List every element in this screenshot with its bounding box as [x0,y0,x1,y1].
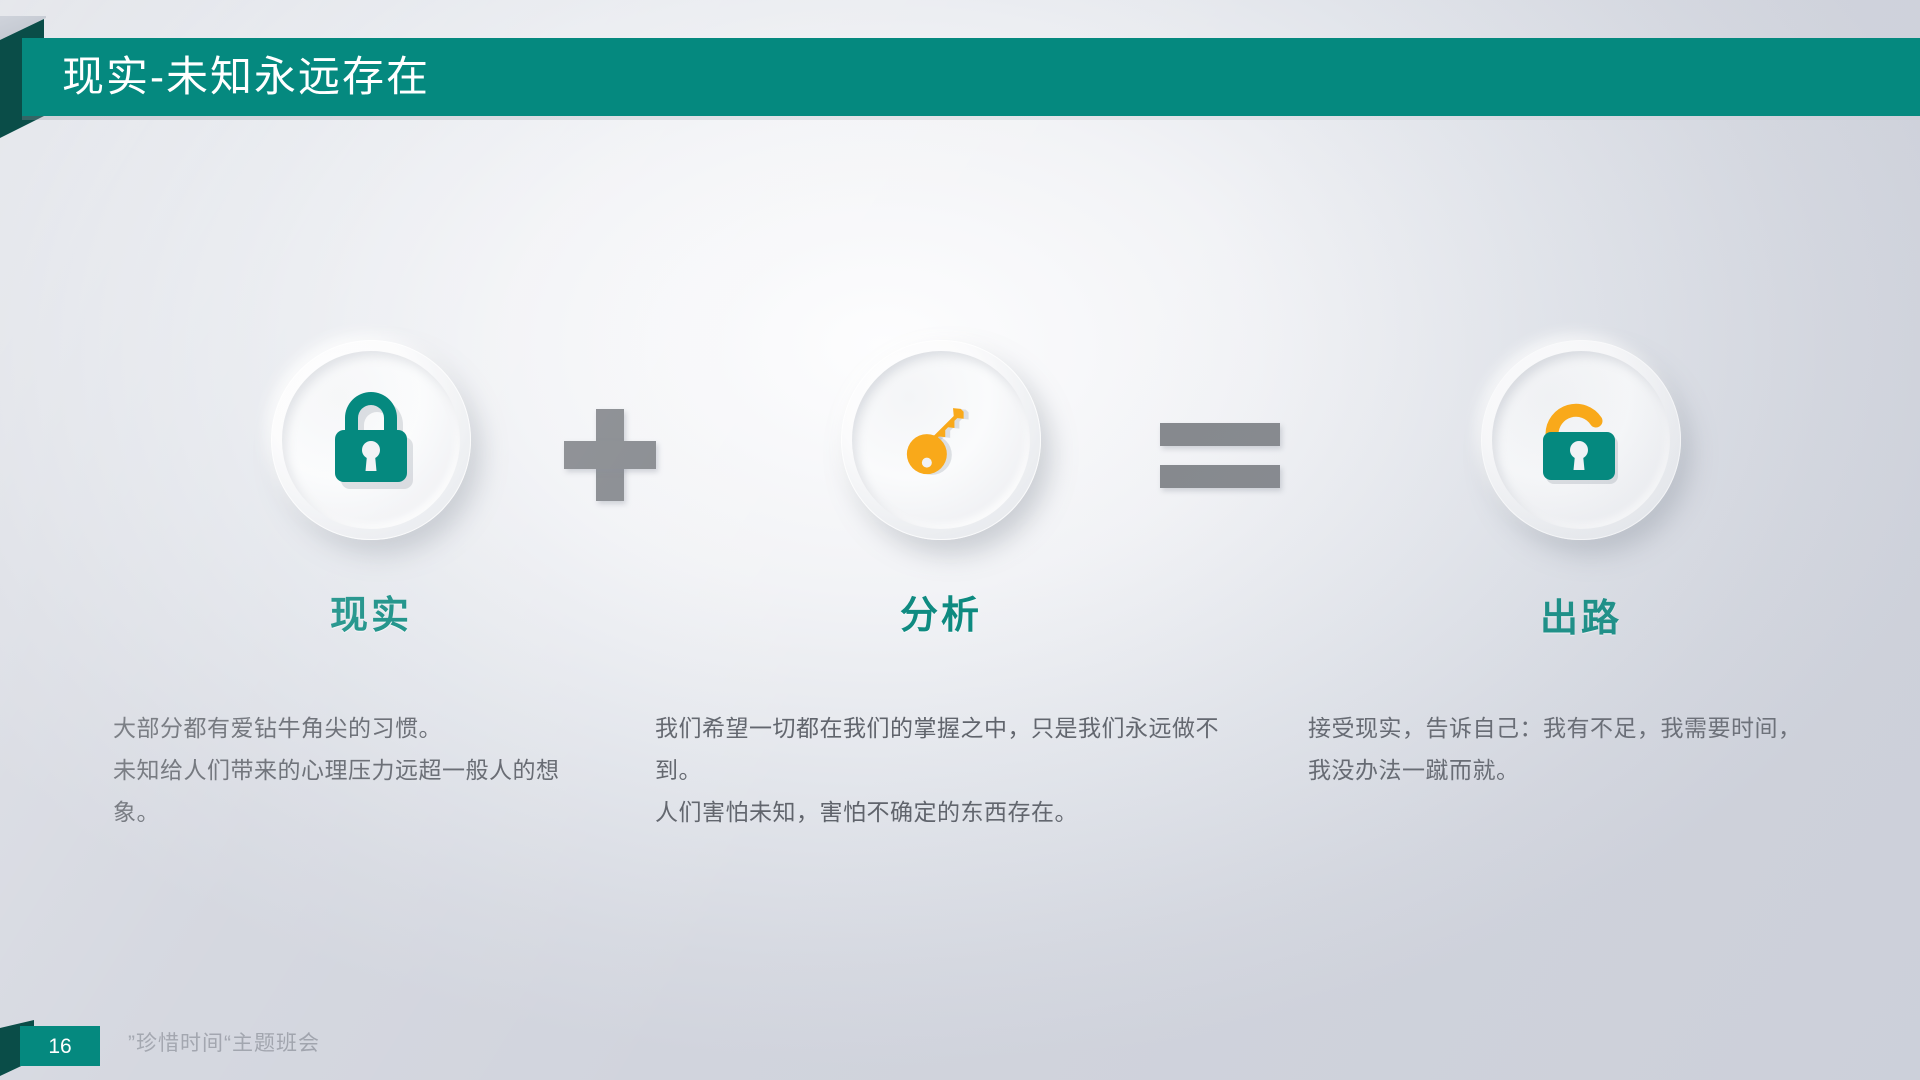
slide-title-banner: 现实-未知永远存在 [0,38,1920,116]
title-underline [22,116,1920,120]
icon-disc-2 [841,340,1041,540]
page-number-badge: 16 [20,1026,100,1066]
closed-padlock-icon [319,388,423,492]
page-number: 16 [48,1036,71,1057]
flow-body-2: 我们希望一切都在我们的掌握之中，只是我们永远做不到。 人们害怕未知，害怕不确定的… [655,708,1235,834]
flow-heading-1: 现实 [256,597,486,635]
plus-operator [520,340,700,570]
flow-heading-2: 分析 [826,597,1056,635]
flow-body-3: 接受现实，告诉自己：我有不足，我需要时间，我没办法一蹴而就。 [1308,708,1808,792]
equals-bar-top [1160,423,1280,446]
page-title: 现实-未知永远存在 [62,56,430,98]
equals-bar-bottom [1160,465,1280,488]
key-icon [889,388,993,492]
equals-operator [1100,340,1340,570]
flow-node-1 [256,340,486,570]
plus-icon [564,409,656,501]
icon-disc-1 [271,340,471,540]
equals-icon [1160,423,1280,488]
flow-heading-3: 出路 [1466,600,1696,638]
flow-body-1: 大部分都有爱钻牛角尖的习惯。 未知给人们带来的心理压力远超一般人的想象。 [113,708,583,834]
footer-label: ”珍惜时间“主题班会 [128,1033,320,1054]
open-padlock-icon [1529,388,1633,492]
slide-canvas: 现实-未知永远存在 [0,0,1920,1080]
plus-bar-horizontal [564,441,656,469]
flow-row [0,340,1920,590]
flow-node-3 [1466,340,1696,570]
flow-node-2 [826,340,1056,570]
icon-disc-3 [1481,340,1681,540]
slide-footer: 16 ”珍惜时间“主题班会 [0,1016,1920,1080]
title-bar: 现实-未知永远存在 [22,38,1920,116]
